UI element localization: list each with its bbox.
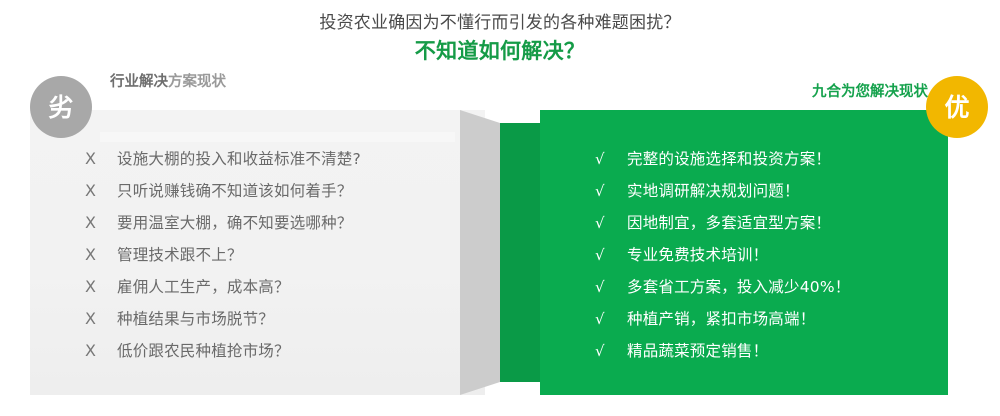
- list-item-label: 要用温室大棚，确不知要选哪种？: [117, 207, 353, 239]
- list-item: √ 种植产销，紧扣市场高端！: [595, 303, 850, 335]
- cross-icon: X: [85, 175, 117, 207]
- cross-icon: X: [85, 303, 117, 335]
- list-item-label: 专业免费技术培训！: [627, 239, 768, 271]
- fold-face-gray: [460, 110, 500, 395]
- problems-panel: X 设施大棚的投入和收益标准不清楚? X 只听说赚钱确不知道该如何着手？ X 要…: [30, 110, 485, 395]
- list-item: X 雇佣人工生产，成本高？: [85, 271, 361, 303]
- right-panel-heading: 九合为您解决现状: [812, 82, 928, 102]
- list-item: √ 实地调研解决规划问题！: [595, 175, 850, 207]
- solutions-panel: √ 完整的设施选择和投资方案！ √ 实地调研解决规划问题！ √ 因地制宜，多套适…: [540, 110, 948, 395]
- solutions-list: √ 完整的设施选择和投资方案！ √ 实地调研解决规划问题！ √ 因地制宜，多套适…: [540, 110, 850, 367]
- left-panel-heading-rest: 方案现状: [168, 74, 226, 90]
- list-item-label: 完整的设施选择和投资方案！: [627, 143, 831, 175]
- check-icon: √: [595, 303, 627, 335]
- badge-bad-label: 劣: [48, 95, 73, 120]
- list-item-label: 管理技术跟不上？: [117, 239, 243, 271]
- left-panel-heading-strong: 行业解决: [110, 74, 168, 90]
- list-item: X 管理技术跟不上？: [85, 239, 361, 271]
- list-item-label: 精品蔬菜预定销售！: [627, 335, 768, 367]
- list-item-label: 实地调研解决规划问题！: [627, 175, 800, 207]
- check-icon: √: [595, 207, 627, 239]
- headline-emphasis: 不知道如何解决？: [0, 36, 1000, 66]
- list-item: X 设施大棚的投入和收益标准不清楚?: [85, 143, 361, 175]
- list-item: √ 专业免费技术培训！: [595, 239, 850, 271]
- badge-good-label: 优: [944, 95, 969, 120]
- badge-bad: 劣: [30, 76, 92, 138]
- list-item-label: 种植结果与市场脱节？: [117, 303, 274, 335]
- list-item-label: 雇佣人工生产，成本高？: [117, 271, 290, 303]
- problems-list: X 设施大棚的投入和收益标准不清楚? X 只听说赚钱确不知道该如何着手？ X 要…: [30, 110, 361, 367]
- list-item: X 要用温室大棚，确不知要选哪种？: [85, 207, 361, 239]
- list-item: X 只听说赚钱确不知道该如何着手？: [85, 175, 361, 207]
- cross-icon: X: [85, 239, 117, 271]
- list-item: √ 因地制宜，多套适宜型方案！: [595, 207, 850, 239]
- list-item: X 低价跟农民种植抢市场？: [85, 335, 361, 367]
- list-item-label: 设施大棚的投入和收益标准不清楚?: [117, 143, 361, 175]
- badge-good: 优: [926, 76, 988, 138]
- list-item-label: 多套省工方案，投入减少40%！: [627, 271, 850, 303]
- check-icon: √: [595, 239, 627, 271]
- list-item-label: 种植产销，紧扣市场高端！: [627, 303, 815, 335]
- headline-question: 投资农业确因为不懂行而引发的各种难题困扰？: [0, 11, 1000, 35]
- check-icon: √: [595, 271, 627, 303]
- list-item-label: 只听说赚钱确不知道该如何着手？: [117, 175, 353, 207]
- list-item-label: 因地制宜，多套适宜型方案！: [627, 207, 831, 239]
- list-item: X 种植结果与市场脱节？: [85, 303, 361, 335]
- check-icon: √: [595, 335, 627, 367]
- list-item: √ 精品蔬菜预定销售！: [595, 335, 850, 367]
- fold-face-green: [500, 123, 540, 382]
- list-item: √ 多套省工方案，投入减少40%！: [595, 271, 850, 303]
- cross-icon: X: [85, 207, 117, 239]
- list-item: √ 完整的设施选择和投资方案！: [595, 143, 850, 175]
- list-item-label: 低价跟农民种植抢市场？: [117, 335, 290, 367]
- cross-icon: X: [85, 271, 117, 303]
- left-panel-heading: 行业解决方案现状: [110, 72, 226, 92]
- headline-block: 投资农业确因为不懂行而引发的各种难题困扰？ 不知道如何解决？: [0, 0, 1000, 66]
- check-icon: √: [595, 143, 627, 175]
- cross-icon: X: [85, 143, 117, 175]
- check-icon: √: [595, 175, 627, 207]
- cross-icon: X: [85, 335, 117, 367]
